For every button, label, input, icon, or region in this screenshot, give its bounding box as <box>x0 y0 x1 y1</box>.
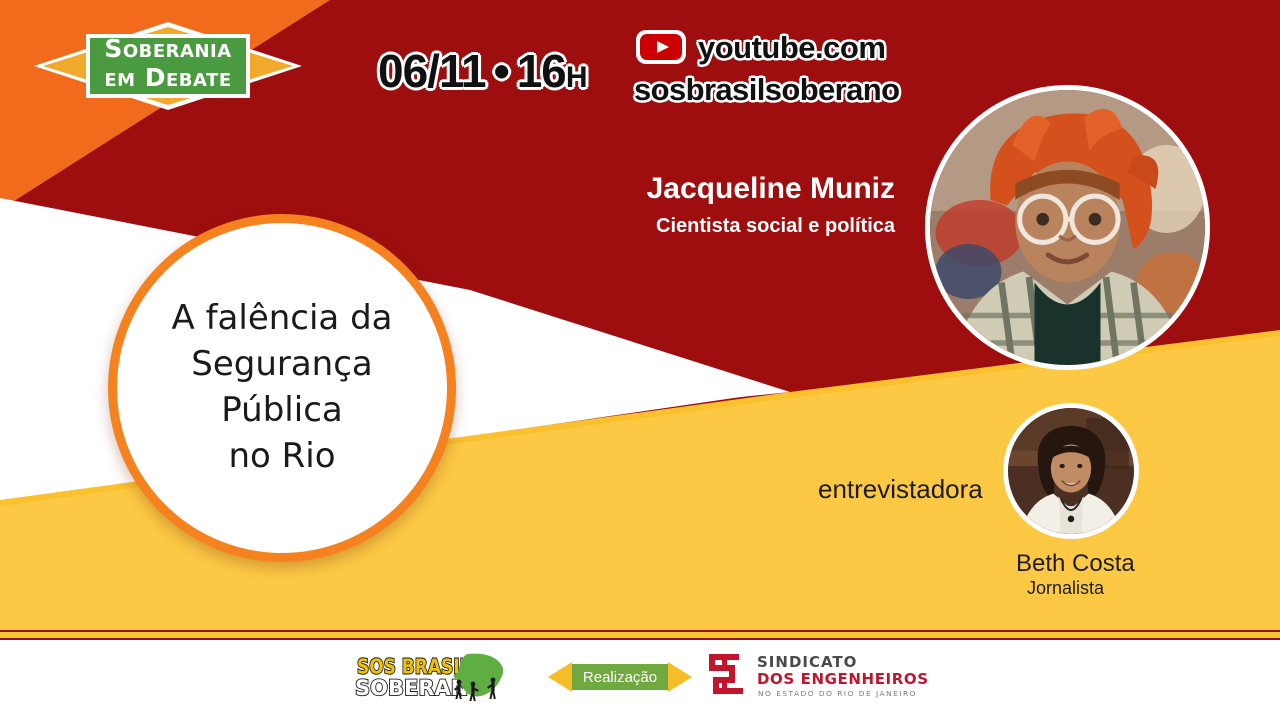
topic-title: A falência da Segurança Pública no Rio <box>117 296 447 480</box>
youtube-channel: sosbrasilsoberano <box>634 74 934 105</box>
host-avatar <box>1003 403 1139 539</box>
guest-name: Jacqueline Muniz <box>647 172 895 206</box>
sindicato-line-3: NO ESTADO DO RIO DE JANEIRO <box>758 689 917 698</box>
topic-title-line-2: Segurança Pública <box>135 342 429 434</box>
sindicato-s-monogram <box>709 654 743 694</box>
broadcast-datetime: 06/11•16H <box>378 44 587 98</box>
youtube-play-icon <box>634 28 688 66</box>
youtube-site: youtube.com <box>698 32 885 63</box>
youtube-block[interactable]: youtube.com sosbrasilsoberano <box>634 28 934 105</box>
broadcast-time: 16 <box>517 45 566 97</box>
host-label: entrevistadora <box>818 474 983 505</box>
host-role: Jornalista <box>1027 578 1104 599</box>
topic-title-line-1: A falência da <box>135 296 429 342</box>
sos-brasil-soberano-logo: SOS BRASIL SOBERANO <box>355 650 545 702</box>
promo-poster: Soberania em Debate 06/11•16H youtube.co… <box>0 0 1280 720</box>
topic-title-line-3: no Rio <box>135 434 429 480</box>
broadcast-date: 06/11 <box>378 45 486 97</box>
portrait-jacqueline-muniz <box>930 90 1205 365</box>
broadcast-separator: • <box>494 45 509 97</box>
topic-title-circle: A falência da Segurança Pública no Rio <box>108 214 456 562</box>
realizacao-badge: Realização <box>548 658 692 696</box>
footer-divider-rule <box>0 632 1280 638</box>
portrait-beth-costa <box>1008 408 1134 534</box>
sindicato-line-2: DOS ENGENHEIROS <box>757 670 927 688</box>
guest-role: Cientista social e política <box>656 215 895 238</box>
broadcast-time-unit: H <box>566 61 587 94</box>
guest-avatar <box>925 85 1210 370</box>
sindicato-line-1: SINDICATO <box>757 653 857 671</box>
host-name: Beth Costa <box>1016 550 1135 578</box>
brand-logo: Soberania em Debate <box>32 20 304 112</box>
sindicato-engenheiros-logo: SINDICATO DOS ENGENHEIROS NO ESTADO DO R… <box>705 650 927 702</box>
